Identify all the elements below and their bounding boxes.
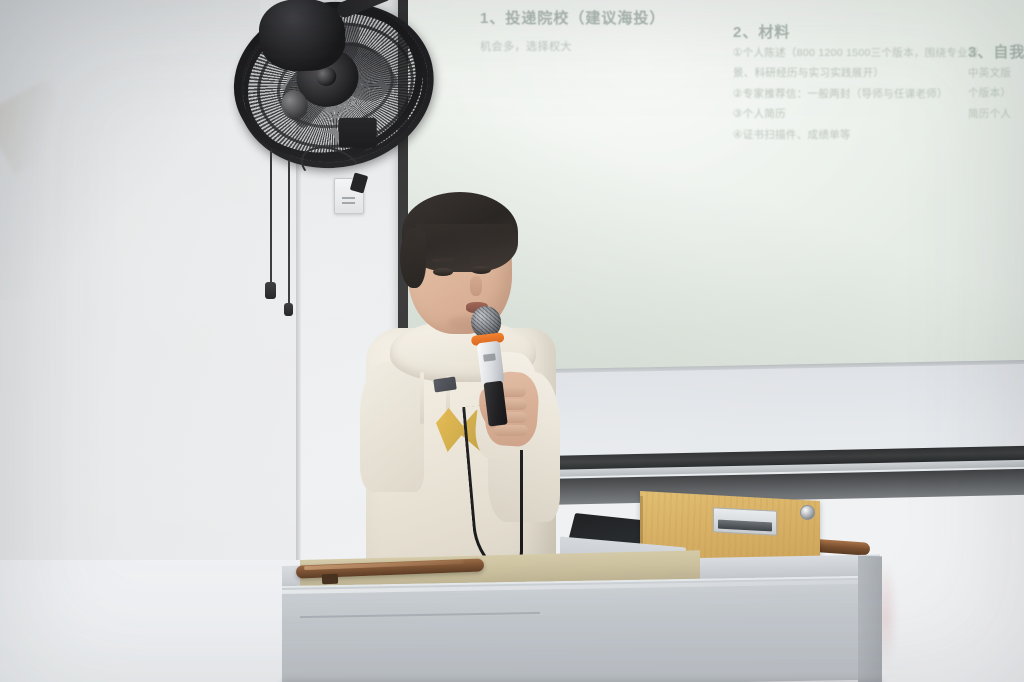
classroom-photo: 1、投递院校（建议海投） 机会多，选择权大 2、材料 ①个人陈述（800 120… (0, 0, 1024, 682)
fan-pull-cord[interactable] (270, 150, 272, 286)
fan-wall-bracket (339, 118, 377, 148)
eye-right (471, 266, 491, 274)
podium-lock-icon[interactable] (800, 505, 815, 520)
fan-motor-housing (258, 0, 346, 73)
left-shoulder (360, 362, 424, 492)
hoodie-drawstring-left (420, 372, 424, 424)
lower-wall (0, 560, 300, 682)
pull-cord-weight[interactable] (265, 282, 276, 299)
nose (470, 276, 482, 296)
podium-right-side (858, 556, 882, 682)
eye-left (433, 268, 453, 276)
fan-pull-cord-2[interactable] (288, 160, 290, 308)
pull-cord-weight-2[interactable] (284, 303, 293, 316)
podium-rail-bracket (322, 574, 338, 585)
microphone-label (483, 353, 496, 361)
microphone-body (477, 341, 505, 385)
podium-drawer-handle[interactable] (713, 507, 777, 535)
